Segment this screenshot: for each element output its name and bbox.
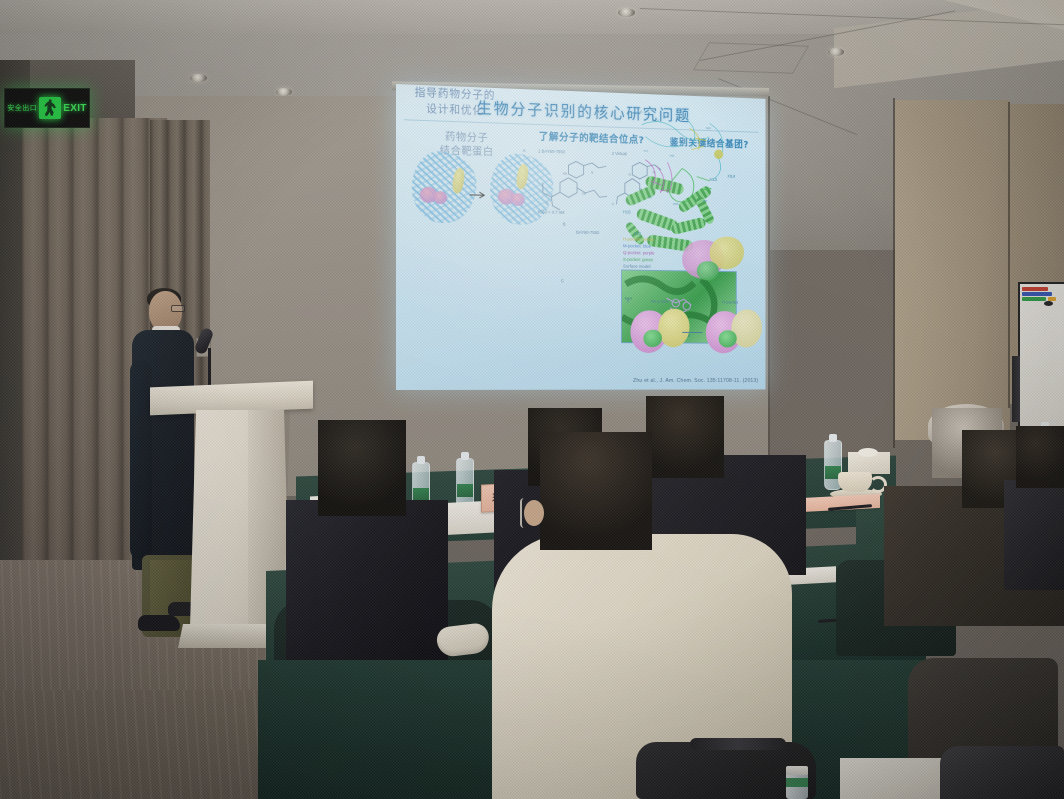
svg-text:Y56: Y56	[669, 154, 674, 158]
mask-strap	[520, 498, 532, 528]
svg-text:M34: M34	[713, 140, 719, 144]
ceiling-access-panel	[693, 42, 809, 74]
tissue-sheet	[858, 448, 878, 457]
marker-tray	[1022, 287, 1062, 304]
exit-sign: 安全出口 EXIT	[4, 88, 90, 128]
wall-panel	[770, 96, 895, 486]
wall-seam	[1008, 102, 1010, 408]
svg-text:P88: P88	[702, 199, 707, 203]
attendee-foreground-head	[540, 432, 652, 550]
ceiling-downlight	[276, 88, 292, 96]
protein-structure-before	[412, 150, 477, 223]
projection-screen: 生物分子识别的核心研究问题 药物分子结合靶蛋白 了解分子的靶结合位点? 鉴别关键…	[396, 84, 765, 390]
h-pocket-label: H-pocket	[722, 300, 738, 305]
panel-label-b-right: B	[627, 299, 630, 304]
attendee-body	[1004, 480, 1064, 590]
svg-text:N22: N22	[706, 126, 711, 130]
attendee-head	[1016, 426, 1064, 488]
ligand-blob	[511, 193, 524, 206]
projected-slide: 生物分子识别的核心研究问题 药物分子结合靶蛋白 了解分子的靶结合位点? 鉴别关键…	[396, 84, 765, 390]
wall-panel	[895, 100, 1010, 440]
attendee-body	[286, 500, 448, 660]
panel-label-c: C	[561, 278, 564, 283]
bottle-label	[786, 778, 808, 787]
svg-text:F72: F72	[647, 195, 652, 199]
ceiling-downlight	[618, 8, 635, 17]
presenter-arm	[130, 360, 152, 560]
attendee-head	[646, 396, 724, 478]
wall-seam	[768, 96, 770, 488]
panel-label-a-right: A	[640, 109, 643, 114]
panel-label-b: B	[563, 222, 566, 227]
exit-sign-chinese-label: 安全出口	[7, 103, 37, 113]
compound-1-label: 1 BAY60-7550	[538, 149, 565, 155]
svg-text:Q19: Q19	[678, 116, 684, 120]
svg-text:OH: OH	[582, 192, 587, 196]
ceiling-downlight	[190, 74, 207, 82]
wall-seam	[893, 98, 895, 448]
binding-pocket-diagram: L20Q19N22 T17Y56M34 F72W66P88	[636, 107, 746, 235]
bag-strap	[690, 738, 786, 750]
running-person-icon	[39, 97, 61, 119]
water-bottle	[456, 458, 474, 508]
svg-text:O: O	[612, 202, 615, 206]
ceiling-downlight	[828, 48, 844, 56]
transition-arrow-icon	[469, 190, 488, 199]
conference-room-photo: 安全出口 EXIT 生物分子识别的核心研究问题 药物分子结合靶蛋白 了解分子的靶…	[0, 0, 1064, 799]
no-pocket-label: No pocket	[651, 299, 669, 304]
whiteboard-stand	[1012, 356, 1020, 422]
presenter-shoe	[138, 615, 180, 631]
compound-2-label: 2 Virtual	[612, 151, 627, 156]
attendee-head	[318, 420, 406, 516]
exit-sign-english-label: EXIT	[63, 103, 86, 114]
ligand-blob	[434, 191, 448, 204]
pocket-comparison-panel: B No pocket H-pocket	[627, 302, 764, 366]
chemical-structure-1: HNNOOH	[532, 154, 613, 213]
protein-ligand-label: BAY60-7550	[576, 230, 599, 235]
pocket-legend: H-pocket: yellow M-pocket: blue Q-pocket…	[623, 237, 655, 271]
coffee-cup	[838, 472, 872, 492]
svg-text:O: O	[546, 201, 549, 205]
bottle-cap	[786, 766, 808, 775]
svg-text:L20: L20	[655, 119, 660, 123]
svg-text:HN: HN	[563, 172, 568, 176]
panel-label-a: A	[523, 148, 526, 153]
whiteboard	[1018, 282, 1064, 428]
svg-text:T17: T17	[643, 149, 648, 153]
presenter-glasses	[171, 305, 185, 312]
slide-citation: Zhu et al., J. Am. Chem. Soc. 135:11708-…	[633, 378, 758, 384]
svg-text:W66: W66	[673, 202, 679, 206]
backpack	[940, 746, 1064, 799]
svg-text:N: N	[591, 171, 594, 175]
